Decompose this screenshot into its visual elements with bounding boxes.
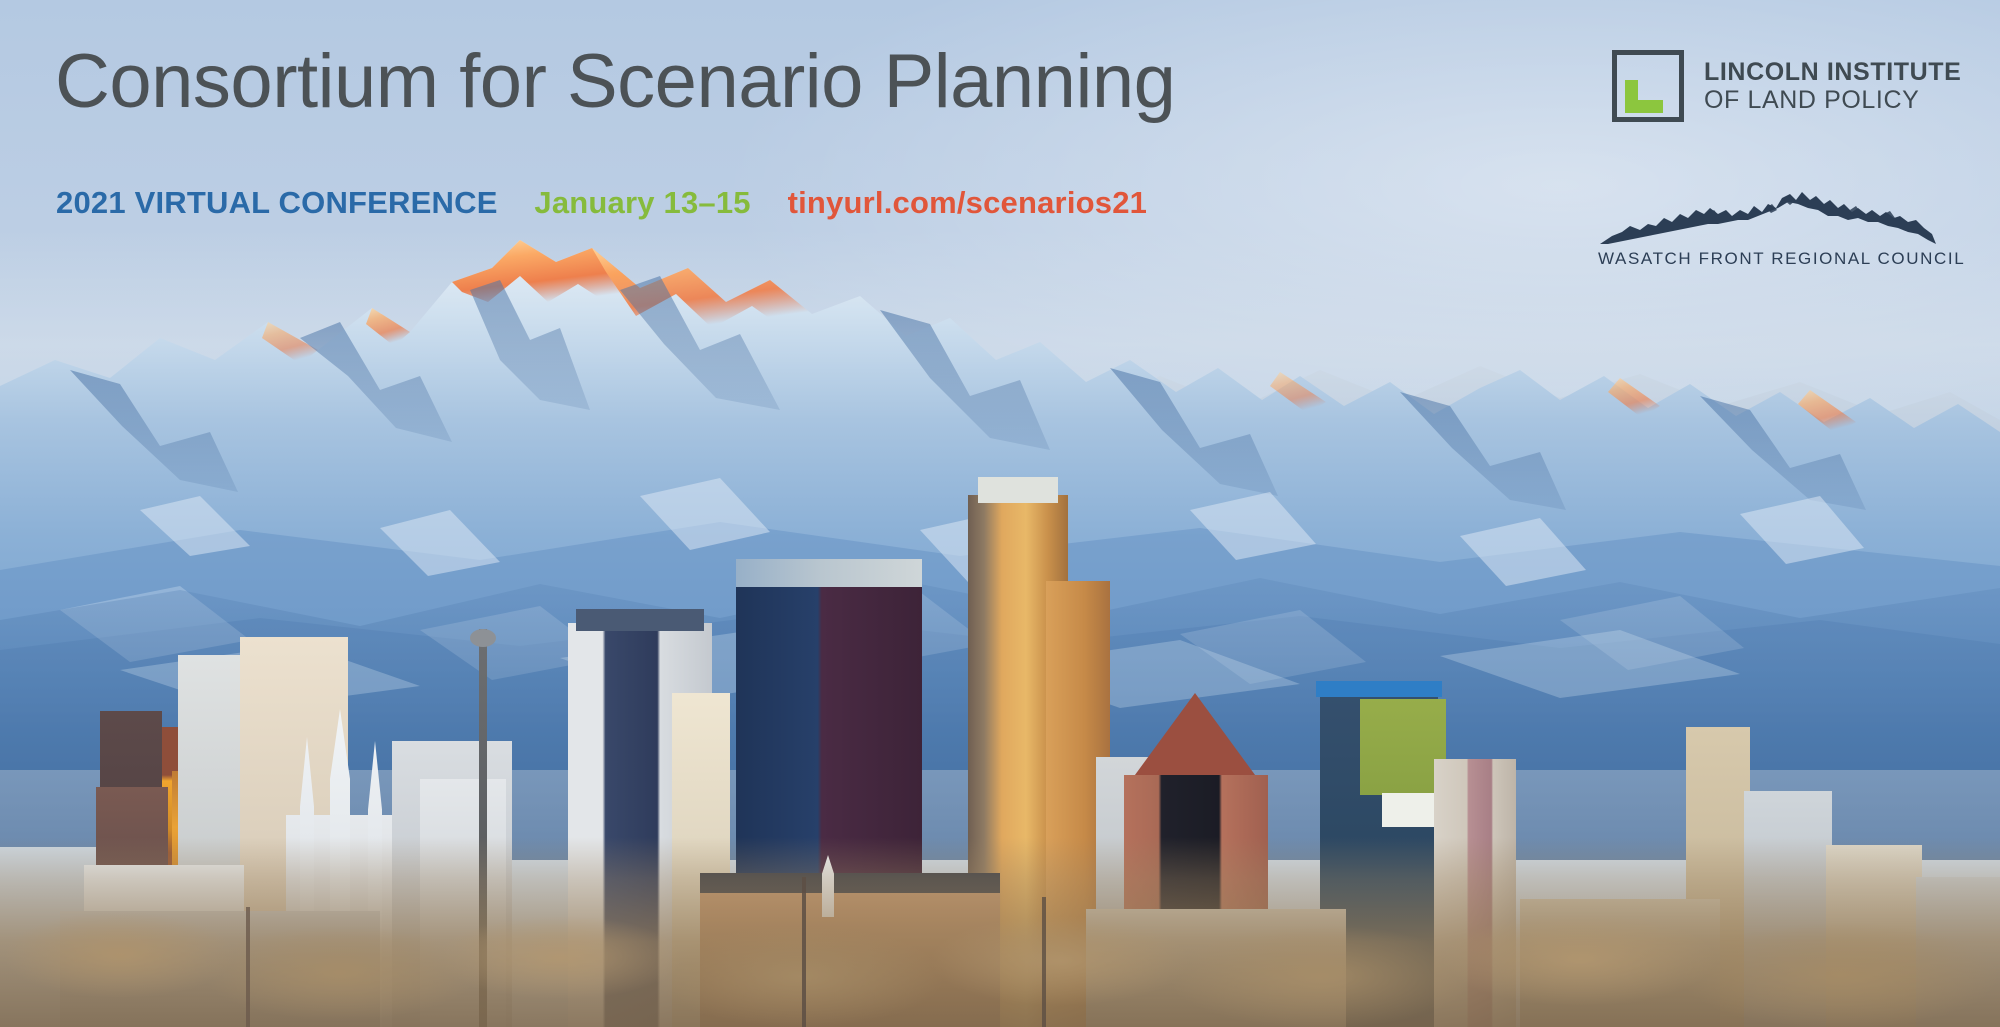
lincoln-logo-text: LINCOLN INSTITUTE OF LAND POLICY: [1704, 58, 1961, 114]
building-center-tower-crown: [576, 609, 704, 631]
utility-pole-center: [802, 877, 806, 1027]
utility-pole-left: [246, 907, 250, 1027]
radio-mast-dish: [470, 629, 496, 647]
lincoln-logo-line1: LINCOLN INSTITUTE: [1704, 58, 1961, 86]
lincoln-institute-logo[interactable]: LINCOLN INSTITUTE OF LAND POLICY: [1612, 50, 1961, 122]
wfrc-logo-text: WASATCH FRONT REGIONAL COUNCIL: [1598, 249, 1938, 269]
building-glass-tower-top: [736, 559, 922, 587]
building-red-pyramid-roof: [1132, 693, 1258, 779]
building-blue-glass-crown: [1316, 681, 1442, 697]
conference-banner: Consortium for Scenario Planning 2021 VI…: [0, 0, 2000, 1027]
conference-dates: January 13–15: [534, 185, 750, 221]
building-gold-skyscraper-crown: [978, 477, 1058, 503]
utility-pole-right: [1042, 897, 1046, 1027]
lincoln-square-bracket-l-icon: [1612, 50, 1684, 122]
registration-url[interactable]: tinyurl.com/scenarios21: [788, 185, 1148, 221]
wfrc-mountain-range-icon: [1598, 186, 1938, 248]
event-details-line: 2021 VIRTUAL CONFERENCE January 13–15 ti…: [56, 185, 1147, 221]
lincoln-logo-line2: OF LAND POLICY: [1704, 86, 1961, 114]
treeline-canopy: [0, 907, 2000, 1027]
city-skyline: [0, 467, 2000, 1027]
conference-label: 2021 VIRTUAL CONFERENCE: [56, 185, 498, 221]
wfrc-logo[interactable]: WASATCH FRONT REGIONAL COUNCIL: [1598, 186, 1938, 269]
page-title: Consortium for Scenario Planning: [55, 44, 1175, 120]
